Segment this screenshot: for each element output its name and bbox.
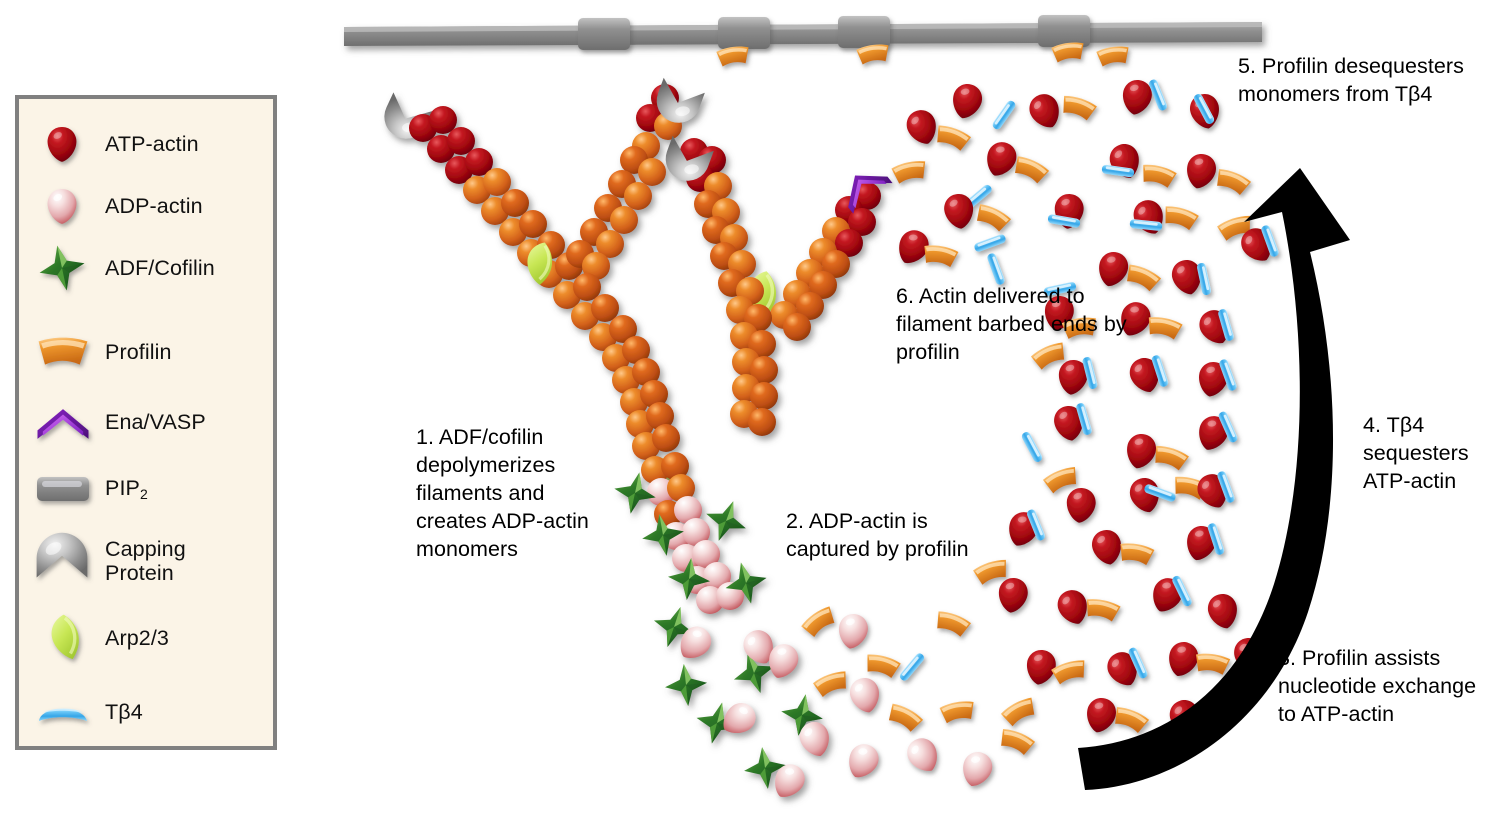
ena-vasp-icon — [19, 395, 105, 449]
legend-label-profilin: Profilin — [105, 340, 172, 364]
tb4-icon — [19, 685, 105, 739]
legend-item-arp23: Arp2/3 — [19, 611, 273, 665]
capping-protein-icon — [19, 523, 105, 599]
legend-item-tb4: Tβ4 — [19, 685, 273, 739]
plasma-membrane-bar — [344, 22, 1262, 46]
pip2-text: PIP — [105, 476, 140, 500]
monomer-pool — [891, 78, 1280, 739]
arp23-icon — [19, 611, 105, 665]
profilin-icon — [19, 325, 105, 379]
legend-label-atp-actin: ATP-actin — [105, 132, 199, 156]
legend-item-atp-actin: ATP-actin — [19, 117, 273, 171]
adp-actin-icon — [19, 179, 105, 233]
annotation-step-4: 4. Tβ4 sequesters ATP-actin — [1363, 412, 1498, 496]
branched-filament-right — [660, 136, 893, 436]
adf-cofilin-icon — [19, 241, 105, 295]
annotation-step-5: 5. Profilin desequesters monomers from T… — [1238, 53, 1498, 109]
legend-label-pip2: PIP2 — [105, 476, 148, 500]
legend-item-adf-cofilin: ADF/Cofilin — [19, 241, 273, 295]
legend-label-capping-protein: Capping Protein — [105, 537, 186, 585]
adp-profilin-pool — [800, 604, 1037, 790]
annotation-step-3: 3. Profilin assists nucleotide exchange … — [1278, 645, 1496, 729]
legend-label-tb4: Tβ4 — [105, 700, 143, 724]
annotation-step-2: 2. ADP-actin is captured by profilin — [786, 508, 986, 564]
pip2-subscript: 2 — [140, 486, 148, 502]
legend-item-ena-vasp: Ena/VASP — [19, 395, 273, 449]
membrane-profilin-group — [716, 41, 1131, 67]
depolymerizing-filament — [610, 452, 834, 804]
legend-item-capping-protein: Capping Protein — [19, 523, 273, 599]
legend-item-pip2: PIP2 — [19, 461, 273, 515]
legend-label-adf-cofilin: ADF/Cofilin — [105, 256, 215, 280]
legend-label-ena-vasp: Ena/VASP — [105, 410, 206, 434]
legend-label-adp-actin: ADP-actin — [105, 194, 203, 218]
legend-box: ATP-actin ADP-actin ADF/Cofilin Profilin — [15, 95, 277, 750]
legend-item-adp-actin: ADP-actin — [19, 179, 273, 233]
atp-actin-icon — [19, 117, 105, 171]
diagram-canvas: ATP-actin ADP-actin ADF/Cofilin Profilin — [0, 0, 1498, 829]
pip2-icon — [19, 461, 105, 515]
annotation-step-1: 1. ADF/cofilin depolymerizes filaments a… — [416, 424, 606, 564]
legend-item-profilin: Profilin — [19, 325, 273, 379]
annotation-step-6: 6. Actin delivered to filament barbed en… — [896, 283, 1164, 367]
legend-label-arp23: Arp2/3 — [105, 626, 169, 650]
